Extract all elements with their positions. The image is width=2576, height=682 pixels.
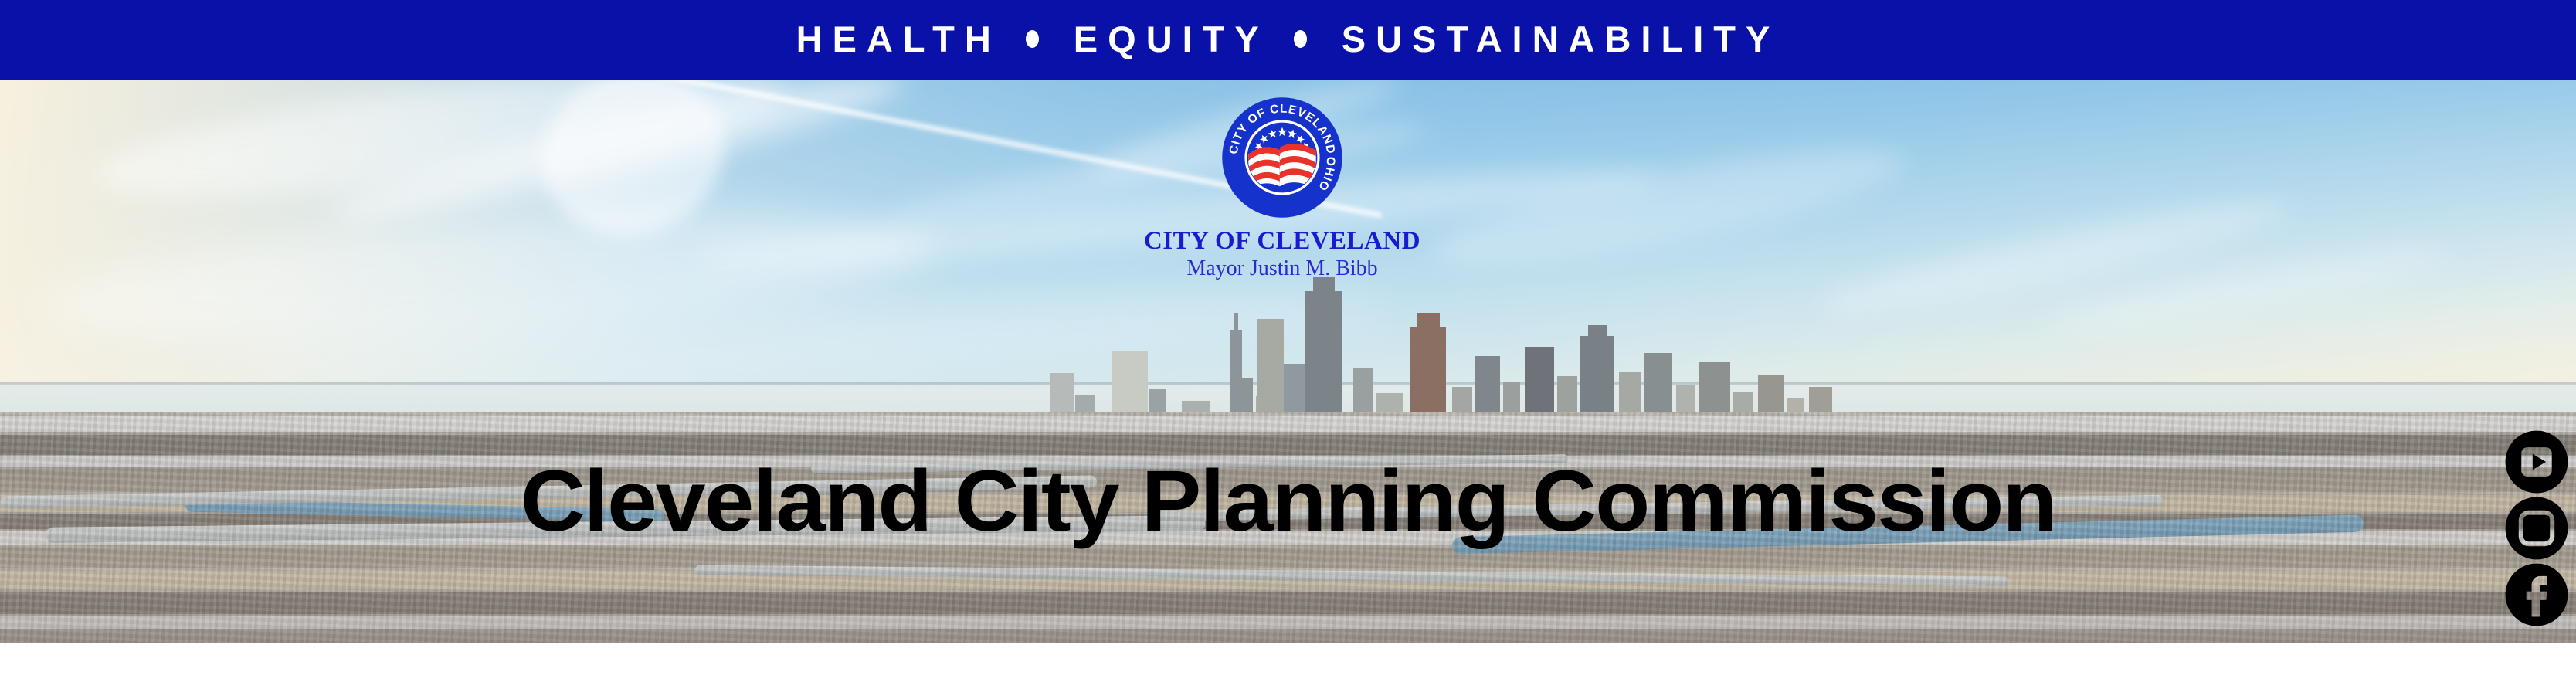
tagline-inner: HEALTH EQUITY SUSTAINABILITY <box>796 21 1780 57</box>
mayor-name: Mayor Justin M. Bibb <box>1081 257 1483 281</box>
city-of-cleveland-seal-icon: CITY OF CLEVELAND OHIO <box>1220 95 1345 220</box>
bottom-white-strip <box>0 643 2576 682</box>
org-name: CITY OF CLEVELAND <box>1081 228 1483 255</box>
bullet-dot-icon <box>1026 30 1039 48</box>
youtube-link[interactable] <box>2503 429 2570 495</box>
page-root: HEALTH EQUITY SUSTAINABILITY <box>0 0 2576 682</box>
tagline-word-equity: EQUITY <box>1074 21 1269 57</box>
instagram-link[interactable] <box>2503 495 2570 562</box>
photo-bottom-shadow <box>0 589 2576 643</box>
bullet-dot-icon <box>1294 30 1307 48</box>
brand-block: CITY OF CLEVELAND OHIO <box>1081 95 1483 280</box>
social-links <box>2501 429 2572 628</box>
tagline-word-health: HEALTH <box>796 21 1001 57</box>
hero-background-photo: CITY OF CLEVELAND OHIO <box>0 80 2576 643</box>
facebook-link[interactable] <box>2503 562 2570 628</box>
tagline-bar: HEALTH EQUITY SUSTAINABILITY <box>0 0 2576 80</box>
page-title: Cleveland City Planning Commission <box>0 458 2576 545</box>
tagline-word-sustainability: SUSTAINABILITY <box>1342 21 1780 57</box>
instagram-dot-icon <box>2545 515 2550 520</box>
play-triangle-icon <box>2533 454 2546 470</box>
